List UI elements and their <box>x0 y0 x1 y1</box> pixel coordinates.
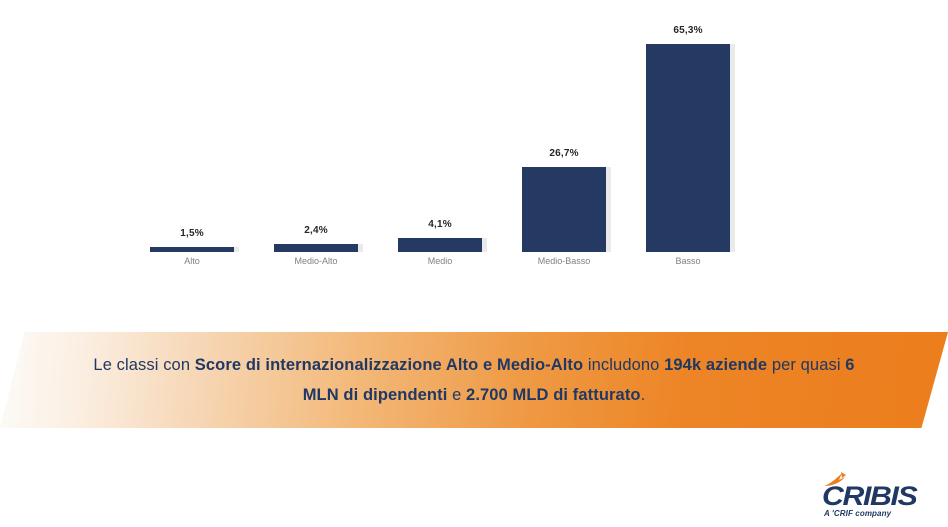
bar-value-medio-basso: 26,7% <box>522 148 606 159</box>
bar-slot-alto: 1,5% <box>150 20 234 252</box>
category-label-medio-alto: Medio-Alto <box>274 256 358 266</box>
banner-emphasis: 194k aziende <box>664 356 767 374</box>
category-label-alto: Alto <box>150 256 234 266</box>
banner-plain: includono <box>583 356 664 374</box>
bar-slot-medio-alto: 2,4% <box>274 20 358 252</box>
banner-plain: Le classi con <box>93 356 194 374</box>
bar-slot-basso: 65,3% <box>646 20 730 252</box>
banner-plain: . <box>641 386 646 404</box>
bar-chart: 1,5% 2,4% 4,1% 26,7% 65,3% <box>0 0 948 320</box>
banner-emphasis: 2.700 MLD di fatturato <box>466 386 641 404</box>
bar-medio-alto[interactable] <box>274 244 358 252</box>
logo-tagline: A 'CRIF company <box>824 509 891 518</box>
bar-value-basso: 65,3% <box>646 25 730 36</box>
bar-slot-medio: 4,1% <box>398 20 482 252</box>
cribis-logo: CRIBIS A 'CRIF company <box>816 469 934 521</box>
banner-plain: e <box>447 386 466 404</box>
bar-value-medio-alto: 2,4% <box>274 225 358 236</box>
bar-basso[interactable] <box>646 44 730 252</box>
summary-banner-text: Le classi con Score di internazionalizza… <box>74 350 874 410</box>
category-label-medio-basso: Medio-Basso <box>522 256 606 266</box>
banner-emphasis: Score di internazionalizzazione Alto e M… <box>195 356 583 374</box>
bar-slot-medio-basso: 26,7% <box>522 20 606 252</box>
logo-wordmark: CRIBIS <box>822 481 916 512</box>
category-label-basso: Basso <box>646 256 730 266</box>
category-label-medio: Medio <box>398 256 482 266</box>
bar-value-alto: 1,5% <box>150 228 234 239</box>
summary-banner: Le classi con Score di internazionalizza… <box>0 332 948 428</box>
chart-plot-area: 1,5% 2,4% 4,1% 26,7% 65,3% <box>150 20 710 252</box>
bar-medio[interactable] <box>398 238 482 252</box>
bar-alto[interactable] <box>150 247 234 252</box>
bar-value-medio: 4,1% <box>398 219 482 230</box>
category-axis: Alto Medio-Alto Medio Medio-Basso Basso <box>150 256 710 276</box>
banner-plain: per quasi <box>767 356 845 374</box>
bar-medio-basso[interactable] <box>522 167 606 252</box>
